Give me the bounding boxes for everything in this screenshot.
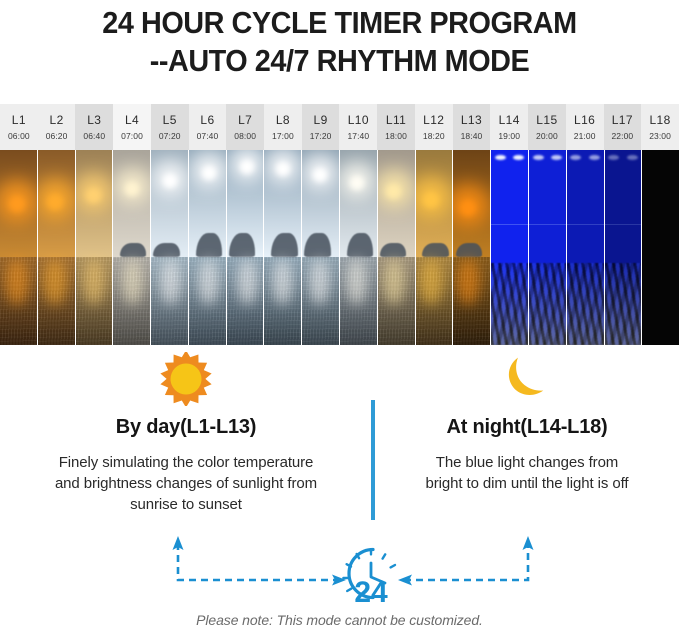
timeline-time: 18:00 (385, 130, 407, 142)
sun-orb (313, 168, 327, 182)
timeline-label: L6 (200, 113, 214, 127)
timeline-time: 07:00 (121, 130, 143, 142)
timeline-cell-l2[interactable]: L206:20 (38, 104, 76, 150)
led-row (567, 152, 604, 163)
sun-icon (8, 345, 364, 405)
timeline-cell-l3[interactable]: L306:40 (75, 104, 113, 150)
timeline-header: L106:00L206:20L306:40L407:00L507:20L607:… (0, 104, 679, 150)
strip-segment-l18 (642, 150, 679, 345)
timeline-time: 06:20 (46, 130, 68, 142)
timeline-time: 07:40 (197, 130, 219, 142)
page-title: 24 HOUR CYCLE TIMER PROGRAM --AUTO 24/7 … (0, 0, 679, 80)
lighting-preview-strip (0, 150, 679, 345)
strip-segment-l6 (189, 150, 227, 345)
led-dot (570, 155, 581, 160)
timeline-label: L17 (612, 113, 633, 127)
timeline-time: 17:00 (272, 130, 294, 142)
led-row (605, 152, 642, 163)
loop-path-left (178, 544, 340, 580)
note-text: Please note: This mode cannot be customi… (0, 612, 679, 628)
strip-segment-l3 (76, 150, 114, 345)
timeline-time: 17:20 (310, 130, 332, 142)
timeline-label: L13 (461, 113, 482, 127)
strip-segment-l16 (567, 150, 605, 345)
timeline-time: 18:20 (423, 130, 445, 142)
timeline-time: 20:00 (536, 130, 558, 142)
timeline-label: L10 (348, 113, 369, 127)
timeline-label: L18 (649, 113, 670, 127)
strip-segment-l5 (151, 150, 189, 345)
led-dot (551, 155, 562, 160)
strip-segment-l10 (340, 150, 378, 345)
timeline-label: L14 (499, 113, 520, 127)
led-dot (627, 155, 638, 160)
timeline-time: 08:00 (234, 130, 256, 142)
timeline-label: L3 (87, 113, 101, 127)
timeline-label: L4 (125, 113, 139, 127)
strip-segment-l2 (38, 150, 76, 345)
moon-icon (382, 345, 672, 405)
loop-path-right (404, 544, 528, 580)
timeline-cell-l7[interactable]: L708:00 (226, 104, 264, 150)
timeline-cell-l10[interactable]: L1017:40 (339, 104, 377, 150)
timeline-label: L9 (314, 113, 328, 127)
timeline-label: L12 (423, 113, 444, 127)
timeline-time: 19:00 (498, 130, 520, 142)
sun-orb (202, 166, 216, 180)
timeline-cell-l18[interactable]: L1823:00 (641, 104, 679, 150)
strip-segment-l17 (605, 150, 643, 345)
led-dot (533, 155, 544, 160)
timeline-label: L16 (574, 113, 595, 127)
timeline-label: L11 (386, 113, 406, 127)
day-body-line-2: and brightness changes of sunlight from (8, 473, 364, 494)
timeline-time: 06:40 (83, 130, 105, 142)
timeline-cell-l16[interactable]: L1621:00 (566, 104, 604, 150)
timeline-time: 18:40 (461, 130, 483, 142)
day-column: By day(L1-L13) Finely simulating the col… (8, 345, 364, 515)
night-body-line-1: The blue light changes from (382, 452, 672, 473)
timeline-time: 22:00 (611, 130, 633, 142)
strip-segment-l14 (491, 150, 529, 345)
timeline-time: 21:00 (574, 130, 596, 142)
night-heading: At night(L14-L18) (382, 415, 672, 439)
sun-orb (276, 162, 290, 176)
sun-orb (9, 196, 25, 212)
led-dot (513, 155, 524, 160)
timeline-label: L8 (276, 113, 290, 127)
sun-orb (460, 200, 476, 216)
timeline-time: 07:20 (159, 130, 181, 142)
timeline-cell-l9[interactable]: L917:20 (302, 104, 340, 150)
day-body-line-3: sunrise to sunset (8, 494, 364, 515)
timeline-label: L1 (12, 113, 26, 127)
timeline-label: L5 (163, 113, 177, 127)
timeline-cell-l8[interactable]: L817:00 (264, 104, 302, 150)
title-line-2: --AUTO 24/7 RHYTHM MODE (24, 42, 655, 80)
timeline-cell-l13[interactable]: L1318:40 (453, 104, 491, 150)
title-line-1: 24 HOUR CYCLE TIMER PROGRAM (24, 4, 655, 42)
led-dot (589, 155, 600, 160)
day-body: Finely simulating the color temperature … (8, 452, 364, 515)
infographic-page: 24 HOUR CYCLE TIMER PROGRAM --AUTO 24/7 … (0, 0, 679, 636)
strip-segment-l13 (453, 150, 491, 345)
timeline-label: L2 (50, 113, 64, 127)
timeline-cell-l11[interactable]: L1118:00 (377, 104, 415, 150)
strip-segment-l9 (302, 150, 340, 345)
timeline-time: 06:00 (8, 130, 30, 142)
cycle-loop-diagram: 24 (0, 520, 679, 605)
led-row (491, 152, 528, 163)
clock-24-icon: 24 (343, 550, 395, 606)
sun-orb (423, 192, 439, 208)
mode-description-section: By day(L1-L13) Finely simulating the col… (0, 345, 679, 520)
night-body: The blue light changes from bright to di… (382, 452, 672, 494)
led-dot (495, 155, 506, 160)
clock-label: 24 (354, 576, 388, 605)
timeline-cell-l12[interactable]: L1218:20 (415, 104, 453, 150)
timeline-cell-l17[interactable]: L1722:00 (604, 104, 642, 150)
timeline-cell-l14[interactable]: L1419:00 (490, 104, 528, 150)
day-heading: By day(L1-L13) (8, 415, 364, 439)
vertical-divider (371, 400, 375, 520)
strip-segment-l4 (113, 150, 151, 345)
led-row (529, 152, 566, 163)
timeline-cell-l4[interactable]: L407:00 (113, 104, 151, 150)
timeline-cell-l5[interactable]: L507:20 (151, 104, 189, 150)
sun-orb (350, 176, 364, 190)
timeline-time: 17:40 (347, 130, 369, 142)
timeline-cell-l1[interactable]: L106:00 (0, 104, 38, 150)
day-body-line-1: Finely simulating the color temperature (8, 452, 364, 473)
strip-segment-l7 (227, 150, 265, 345)
night-body-line-2: bright to dim until the light is off (382, 473, 672, 494)
timeline-time: 23:00 (649, 130, 671, 142)
night-column: At night(L14-L18) The blue light changes… (382, 345, 672, 494)
strip-segment-l15 (529, 150, 567, 345)
timeline-label: L7 (238, 113, 252, 127)
strip-segment-l8 (264, 150, 302, 345)
timeline-label: L15 (536, 113, 557, 127)
timeline-cell-l6[interactable]: L607:40 (189, 104, 227, 150)
led-dot (608, 155, 619, 160)
strip-segment-l1 (0, 150, 38, 345)
strip-segment-l11 (378, 150, 416, 345)
strip-segment-l12 (416, 150, 454, 345)
timeline-cell-l15[interactable]: L1520:00 (528, 104, 566, 150)
